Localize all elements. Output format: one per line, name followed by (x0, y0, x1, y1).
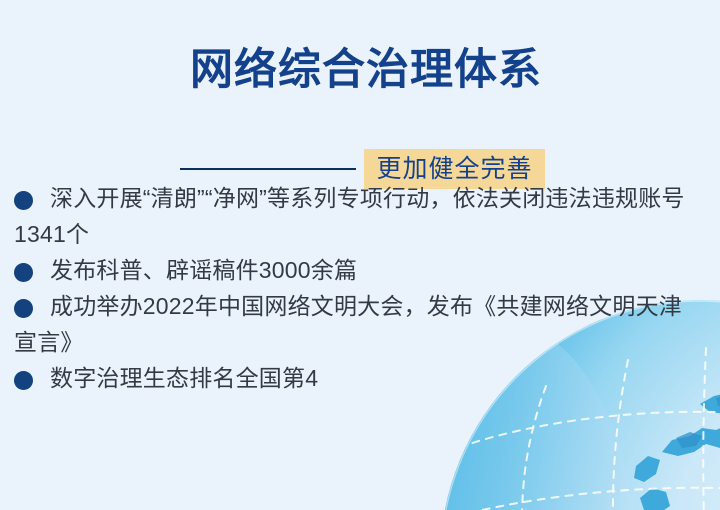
bullet-dot-icon (14, 263, 33, 282)
bullet-dot-icon (14, 371, 33, 390)
list-item: 深入开展“清朗”“净网”等系列专项行动，依法关闭违法违规账号1341个 (14, 180, 704, 252)
achievement-list: 深入开展“清朗”“净网”等系列专项行动，依法关闭违法违规账号1341个 发布科普… (14, 180, 704, 396)
list-item: 成功举办2022年中国网络文明大会，发布《共建网络文明天津宣言》 (14, 288, 704, 360)
subtitle-badge-label: 更加健全完善 (376, 155, 532, 183)
page-title: 网络综合治理体系 (190, 44, 542, 96)
title-divider (180, 168, 356, 170)
list-item-label: 发布科普、辟谣稿件3000余篇 (50, 257, 357, 283)
infographic-poster: 网络综合治理体系 更加健全完善 深入开展“清朗”“净网”等系列专项行动，依法关闭… (0, 0, 720, 510)
list-item-label: 数字治理生态排名全国第4 (50, 365, 318, 391)
poster-header: 网络综合治理体系 更加健全完善 (0, 44, 720, 154)
list-item: 数字治理生态排名全国第4 (14, 360, 704, 396)
list-item: 发布科普、辟谣稿件3000余篇 (14, 252, 704, 288)
bullet-dot-icon (14, 299, 33, 318)
bullet-dot-icon (14, 191, 33, 210)
list-item-label: 成功举办2022年中国网络文明大会，发布《共建网络文明天津宣言》 (14, 293, 682, 355)
list-item-label: 深入开展“清朗”“净网”等系列专项行动，依法关闭违法违规账号1341个 (14, 185, 685, 247)
